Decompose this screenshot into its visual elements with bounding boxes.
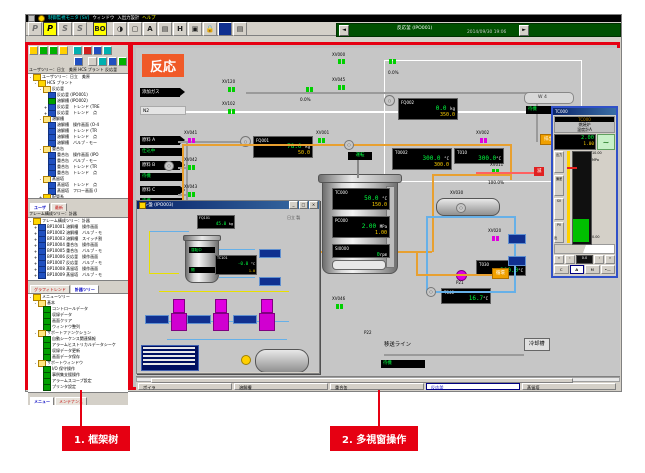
valve-XV046[interactable] — [336, 304, 343, 309]
display-value: 300.0°C — [457, 155, 501, 162]
faceplate-bargraph: 出力 偏差 SV PV 10.00 MPa 0.00 出 — [554, 151, 615, 243]
close-button[interactable]: × — [309, 201, 318, 209]
green-icon — [43, 384, 51, 391]
sub-display-1[interactable]: FQ101 45.0 kg — [197, 215, 235, 229]
display-SI0000[interactable]: SI0000 0rpm — [332, 244, 390, 258]
status-datetime: 2014/09/30 19:06 — [467, 30, 506, 35]
sub-vessel-status: 運転中 — [189, 247, 215, 253]
sub-pump-1[interactable] — [173, 299, 185, 313]
home-icon[interactable] — [83, 46, 92, 55]
mode-a-button[interactable]: A — [570, 265, 585, 274]
valve-XV042[interactable] — [188, 165, 195, 170]
display-value: 16.7°C — [444, 295, 488, 302]
w4-capsule: W 4 — [524, 92, 574, 104]
recycle-outlet: 循環 — [492, 268, 509, 279]
instrument-bubble-3[interactable]: ○ — [164, 161, 174, 171]
faceplate-title: TC000 — [553, 109, 568, 114]
display-setpoint: 1.00 — [335, 230, 387, 236]
toolbar-button-bo[interactable]: BO — [93, 22, 107, 36]
inlet-label-3: 原料 C — [140, 186, 180, 195]
valve-tag-XV043: XV043 — [184, 184, 197, 189]
instrument-bubble-2[interactable]: ○ — [384, 95, 395, 106]
tab-polymerizer[interactable]: 重合缶 — [330, 383, 424, 390]
status-title: 反応釜 (IPO001) — [397, 25, 432, 31]
text-a-icon[interactable]: A — [143, 22, 157, 36]
display-value: 300.0 °C — [395, 155, 449, 162]
callout-2: 2. 多視窗操作 — [330, 426, 418, 451]
valve-XV020[interactable] — [492, 236, 499, 241]
faceplate-sp: 1.00 — [556, 142, 594, 148]
sub-yellow-indicator — [241, 355, 251, 365]
instrument-tree[interactable]: -フレーム構成ツリー：計器+BP10001 溶解槽 操作画面+BP10002 溶… — [28, 218, 128, 280]
tab-dissolver[interactable]: 溶解槽 — [234, 383, 328, 390]
scada-graphic: 反応 添加ガス N2 原料 A 仕込中 原料 B 待機 原料 C 待機 XV12… — [136, 48, 620, 390]
faceplate-pv: 2.00 — [556, 135, 594, 142]
display-FQ001[interactable]: FQ001 78.0 kg 50.0 — [253, 136, 313, 158]
sub-pump-3[interactable] — [261, 299, 273, 313]
flow-percent: 0.0% — [300, 97, 311, 102]
user-tree[interactable]: -ユーザツリー：日立 美原-HCS プラント-反応釜反応釜 (IPO001)溶解… — [28, 74, 128, 198]
agitator-status: 運転 — [348, 152, 372, 160]
display-FQ002[interactable]: FQ002 0.0 kg 350.0 — [398, 98, 458, 120]
aw-icon[interactable]: ▤ — [158, 22, 172, 36]
faceplate-tag-block: TC000 燃焼炉 温度計A — [554, 116, 615, 133]
tree2-tabs: グラフィトレンド計器ツリー — [28, 285, 128, 293]
faceplate-range-hi: 10.00 — [592, 151, 602, 155]
valve-tag-XV030: XV030 — [450, 190, 463, 195]
display-value: 0.0 kg — [401, 105, 455, 112]
sub-corner-note: 日立 製 — [287, 215, 300, 221]
step-value[interactable]: 0.0 — [576, 255, 594, 264]
callout-line-1 — [80, 390, 82, 426]
down-icon[interactable] — [103, 46, 112, 55]
valve-tag-XV000: XV000 — [332, 52, 345, 57]
graph-icon[interactable]: ▢ — [128, 22, 142, 36]
display-T0002[interactable]: T0002 300.0 °C 300.0 — [392, 148, 452, 170]
valve-XV045[interactable] — [338, 85, 345, 90]
step-down-fast[interactable]: « — [554, 255, 564, 264]
inlet-label-2: 原料 B — [140, 161, 180, 170]
maximize-button[interactable]: □ — [299, 201, 308, 209]
mode-c-button[interactable]: C — [554, 265, 569, 274]
blue-tool-icon[interactable] — [74, 57, 83, 66]
tree1-header: ユーザツリー：日立 美原 HCS プラント 反応釜 — [28, 67, 128, 74]
tree-toolbar-row2 — [28, 56, 128, 67]
multi-window-panel: 反応 添加ガス N2 原料 A 仕込中 原料 B 待機 原料 C 待機 XV12… — [130, 42, 620, 390]
tree-item-label: 配管系 — [52, 194, 64, 198]
sub-bottom-tank[interactable] — [255, 349, 309, 372]
menu-tree[interactable]: -メニューツリー-基本コントロールデータ収録データ画面クリアウィンドウ整列-サポ… — [28, 293, 128, 392]
valve-XV002[interactable] — [480, 138, 487, 143]
pump-label-P21: P21 — [456, 280, 464, 285]
valve-XV043[interactable] — [188, 192, 195, 197]
step-up-fast[interactable]: » — [605, 255, 615, 264]
faceplate-range-lo: 0.00 — [592, 235, 600, 239]
sub-vessel[interactable] — [185, 237, 219, 283]
cut-icon[interactable] — [88, 57, 97, 66]
pipe-feed-to-fq — [186, 141, 248, 143]
pump-label-P22: P22 — [364, 330, 372, 335]
faceplate-unit: MPa — [592, 158, 599, 162]
window-icon[interactable] — [73, 46, 82, 55]
faceplate-window[interactable]: TC000 TC000 燃焼炉 温度計A 2.00 1.00 ∼ 出力 偏差 S… — [551, 106, 618, 278]
step-up[interactable]: › — [594, 255, 604, 264]
heat-exchanger[interactable] — [436, 198, 500, 216]
folder-icon — [43, 194, 51, 199]
faceplate-desc-2: 温度計A — [555, 127, 614, 132]
cooling-btn-2[interactable] — [508, 256, 526, 266]
sub-display-2[interactable]: TC101 -0.0 °C 1.0 — [215, 255, 257, 275]
display-value: 0rpm — [335, 251, 387, 259]
info-icon[interactable] — [59, 46, 68, 55]
tree-tab-メンテナンス[interactable]: メンテナンス — [55, 397, 87, 405]
valve-tag-XV046: XV046 — [332, 296, 345, 301]
outlet-1: 滅 — [534, 167, 544, 176]
callout-1: 1. 框架树 — [62, 426, 130, 451]
display-value: 2.00 MPa — [335, 223, 387, 230]
callout-line-2 — [378, 390, 380, 426]
step-down[interactable]: ‹ — [565, 255, 575, 264]
agitator-shaft — [357, 160, 359, 178]
tab-distillation[interactable]: 蒸留塔 — [522, 383, 616, 390]
faceplate-readout: 2.00 1.00 — [554, 134, 596, 150]
inlet-label-1: 原料 A — [140, 136, 180, 145]
cooling-tank-label: 冷却槽 — [524, 338, 550, 351]
copy-icon[interactable] — [98, 57, 107, 66]
tree-tab-メニュー[interactable]: メニュー — [30, 397, 54, 405]
instrument-bubble-5[interactable]: ○ — [426, 287, 436, 297]
toolbar-button-s2[interactable]: S — [73, 22, 87, 36]
display-setpoint: 150.0 — [335, 202, 387, 208]
display-setpoint: 50.0 — [256, 150, 310, 156]
faceplate-out-label: 出 — [554, 235, 557, 240]
faceplate-pv-bar — [573, 219, 589, 242]
cooling-btn-1[interactable] — [508, 234, 526, 244]
valve-XV120[interactable] — [228, 87, 235, 92]
vessel-top-rim — [318, 174, 402, 183]
mode-m-button[interactable]: M — [585, 265, 600, 274]
pipe-n2-header — [146, 111, 536, 113]
flow-percent-2: 0.0% — [388, 70, 399, 75]
graphic-title: 反応 — [142, 54, 184, 77]
valve-tag-XV011: XV011 — [490, 162, 503, 167]
blue-icon — [38, 272, 46, 279]
camera-icon[interactable]: ▣ — [188, 22, 202, 36]
sub-valve-box-3[interactable] — [259, 313, 275, 331]
sub-window-title: S-盤 (IPO003) — [138, 202, 288, 208]
paste-icon[interactable] — [108, 57, 117, 66]
instrument-bubble-6[interactable]: ○ — [456, 203, 466, 213]
display-value: 50.0 °C — [335, 195, 387, 202]
tree-tab-計器ツリー[interactable]: 計器ツリー — [71, 285, 99, 293]
refresh-icon[interactable] — [118, 57, 127, 66]
tree-item-label: プリンタ設定 — [52, 384, 76, 390]
key-lock-icon[interactable]: •— — [601, 265, 616, 274]
trend-icon[interactable]: ▤ — [233, 22, 247, 36]
display-TC000[interactable]: TC000 50.0 °C 150.0 — [332, 188, 390, 210]
frame-tree-panel: ユーザツリー：日立 美原 HCS プラント 反応釜 -ユーザツリー：日立 美原-… — [25, 42, 131, 390]
faceplate-output-bar — [567, 151, 570, 243]
sub-inlet-3 — [233, 315, 257, 324]
tree1-tabs: ユーザ最新 — [28, 203, 128, 211]
transfer-line-label: 移送ライン — [384, 340, 411, 348]
toolbar-button-s1[interactable]: S — [58, 22, 72, 36]
faceplate-output-slider[interactable] — [554, 244, 615, 254]
table-icon[interactable] — [49, 46, 58, 55]
sub-window-icon — [139, 202, 146, 209]
display-setpoint: 350.0 — [401, 112, 455, 118]
faceplate-sp-marker — [567, 167, 577, 169]
n2-label: N2 — [140, 106, 186, 115]
sub-data-table-rows — [143, 347, 195, 367]
window-tab-bar: ボイラ 溶解槽 重合缶 反応釜 蒸留塔 — [136, 376, 620, 391]
flow-annotation: 100.0% — [488, 180, 504, 185]
sub-inlet-2 — [187, 315, 211, 324]
tree-tab-ユーザ[interactable]: ユーザ — [30, 203, 50, 211]
sub-window-titlebar[interactable]: S-盤 (IPO003) _ □ × — [137, 201, 319, 209]
vessel-bottom-valve[interactable] — [332, 260, 386, 270]
h-icon[interactable]: H — [173, 22, 187, 36]
instrument-bubble-4[interactable]: ○ — [344, 140, 354, 150]
faceplate-readout-row: 2.00 1.00 ∼ — [554, 134, 615, 150]
sub-valve-box-1[interactable] — [171, 313, 187, 331]
valve-tag-XV120: XV120 — [222, 79, 235, 84]
toolbar-button-p2[interactable]: P — [43, 22, 57, 36]
display-setpoint: 300.0 — [395, 162, 449, 168]
tree2-header: フレーム構成ツリー：計器 — [28, 211, 128, 218]
tab-reactor[interactable]: 反応釜 — [426, 383, 520, 390]
valve-XV102[interactable] — [228, 109, 235, 114]
tree3-tabs: メニューメンテナンス — [28, 397, 128, 405]
tab-boiler[interactable]: ボイラ — [138, 383, 232, 390]
faceplate-mode-row: C A M •— — [554, 265, 615, 274]
tree-tab-最新[interactable]: 最新 — [51, 203, 67, 211]
toolbar-button-p1[interactable]: P — [28, 22, 42, 36]
sub-btn-1[interactable] — [259, 249, 281, 258]
pencil-icon[interactable] — [29, 46, 38, 55]
valve-XV000b[interactable] — [389, 59, 396, 64]
sub-vessel-rim — [183, 235, 221, 241]
tree-tab-グラフィトレンド[interactable]: グラフィトレンド — [30, 285, 70, 293]
valve-gas-2[interactable] — [306, 87, 313, 92]
valve-tag-XV045: XV045 — [332, 77, 345, 82]
display-PC000[interactable]: PC000 2.00 MPa 1.00 — [332, 216, 390, 238]
sub-valve-box-2[interactable] — [213, 313, 229, 331]
sub-window-body: 日立 製 運転中 開 FQ101 45.0 kg TC101 -0.0 °C 1… — [137, 209, 319, 372]
status-strip: ◄ 反応釜 (IPO001) ► 2014/09/30 19:06 — [336, 23, 621, 37]
pipe-gas-header — [246, 92, 538, 94]
sub-inlet-1 — [145, 315, 169, 324]
horizontal-scrollbar[interactable] — [136, 377, 620, 382]
sub-vessel-status2: 開 — [189, 267, 215, 273]
status-box-0: 仕込中 — [140, 148, 184, 156]
trend-wave-icon[interactable]: ∼ — [597, 134, 615, 150]
tree-item-label: BP10009 蒸留塔 バルブ・モ — [47, 272, 102, 278]
valve-tag-XV020: XV020 — [488, 228, 501, 233]
grid-icon[interactable] — [39, 46, 48, 55]
sub-pump-2[interactable] — [215, 299, 227, 313]
tree-toolbar — [28, 45, 128, 56]
valve-tag-XV102: XV102 — [222, 101, 235, 106]
up-icon[interactable] — [93, 46, 102, 55]
scope-icon[interactable]: ◑ — [113, 22, 127, 36]
menu-tree-item[interactable]: プリンタ設定 — [28, 384, 128, 390]
sub-btn-2[interactable] — [259, 277, 281, 286]
minimize-button[interactable]: _ — [289, 201, 298, 209]
valve-XV041[interactable] — [188, 138, 195, 143]
faceplate-side-labels: 出力 偏差 SV PV — [554, 151, 564, 243]
status-box-4: 待機 — [381, 360, 425, 368]
nav-prev-button[interactable]: ◄ — [339, 25, 349, 36]
lock-icon[interactable]: 🔒 — [203, 22, 217, 36]
instrument-tree-item[interactable]: +BP10009 蒸留塔 バルブ・モ — [28, 272, 128, 278]
valve-tag-XV002: XV002 — [476, 130, 489, 135]
valve-tag-XV042: XV042 — [184, 157, 197, 162]
meter-icon[interactable] — [218, 22, 232, 36]
sub-window[interactable]: S-盤 (IPO003) _ □ × 日立 製 運転中 開 FQ101 45.0… — [136, 200, 320, 374]
valve-tag-XV001: XV001 — [316, 130, 329, 135]
valve-tag-XV041: XV041 — [184, 130, 197, 135]
valve-XV000[interactable] — [338, 59, 345, 64]
nav-next-button[interactable]: ► — [519, 25, 529, 36]
faceplate-stepper-row: « ‹ 0.0 › » — [554, 255, 615, 264]
status-box-1: 待機 — [140, 173, 184, 181]
valve-XV001[interactable] — [318, 138, 325, 143]
faceplate-titlebar[interactable]: TC000 — [553, 108, 616, 115]
inlet-label-0: 添加ガス — [140, 88, 180, 97]
